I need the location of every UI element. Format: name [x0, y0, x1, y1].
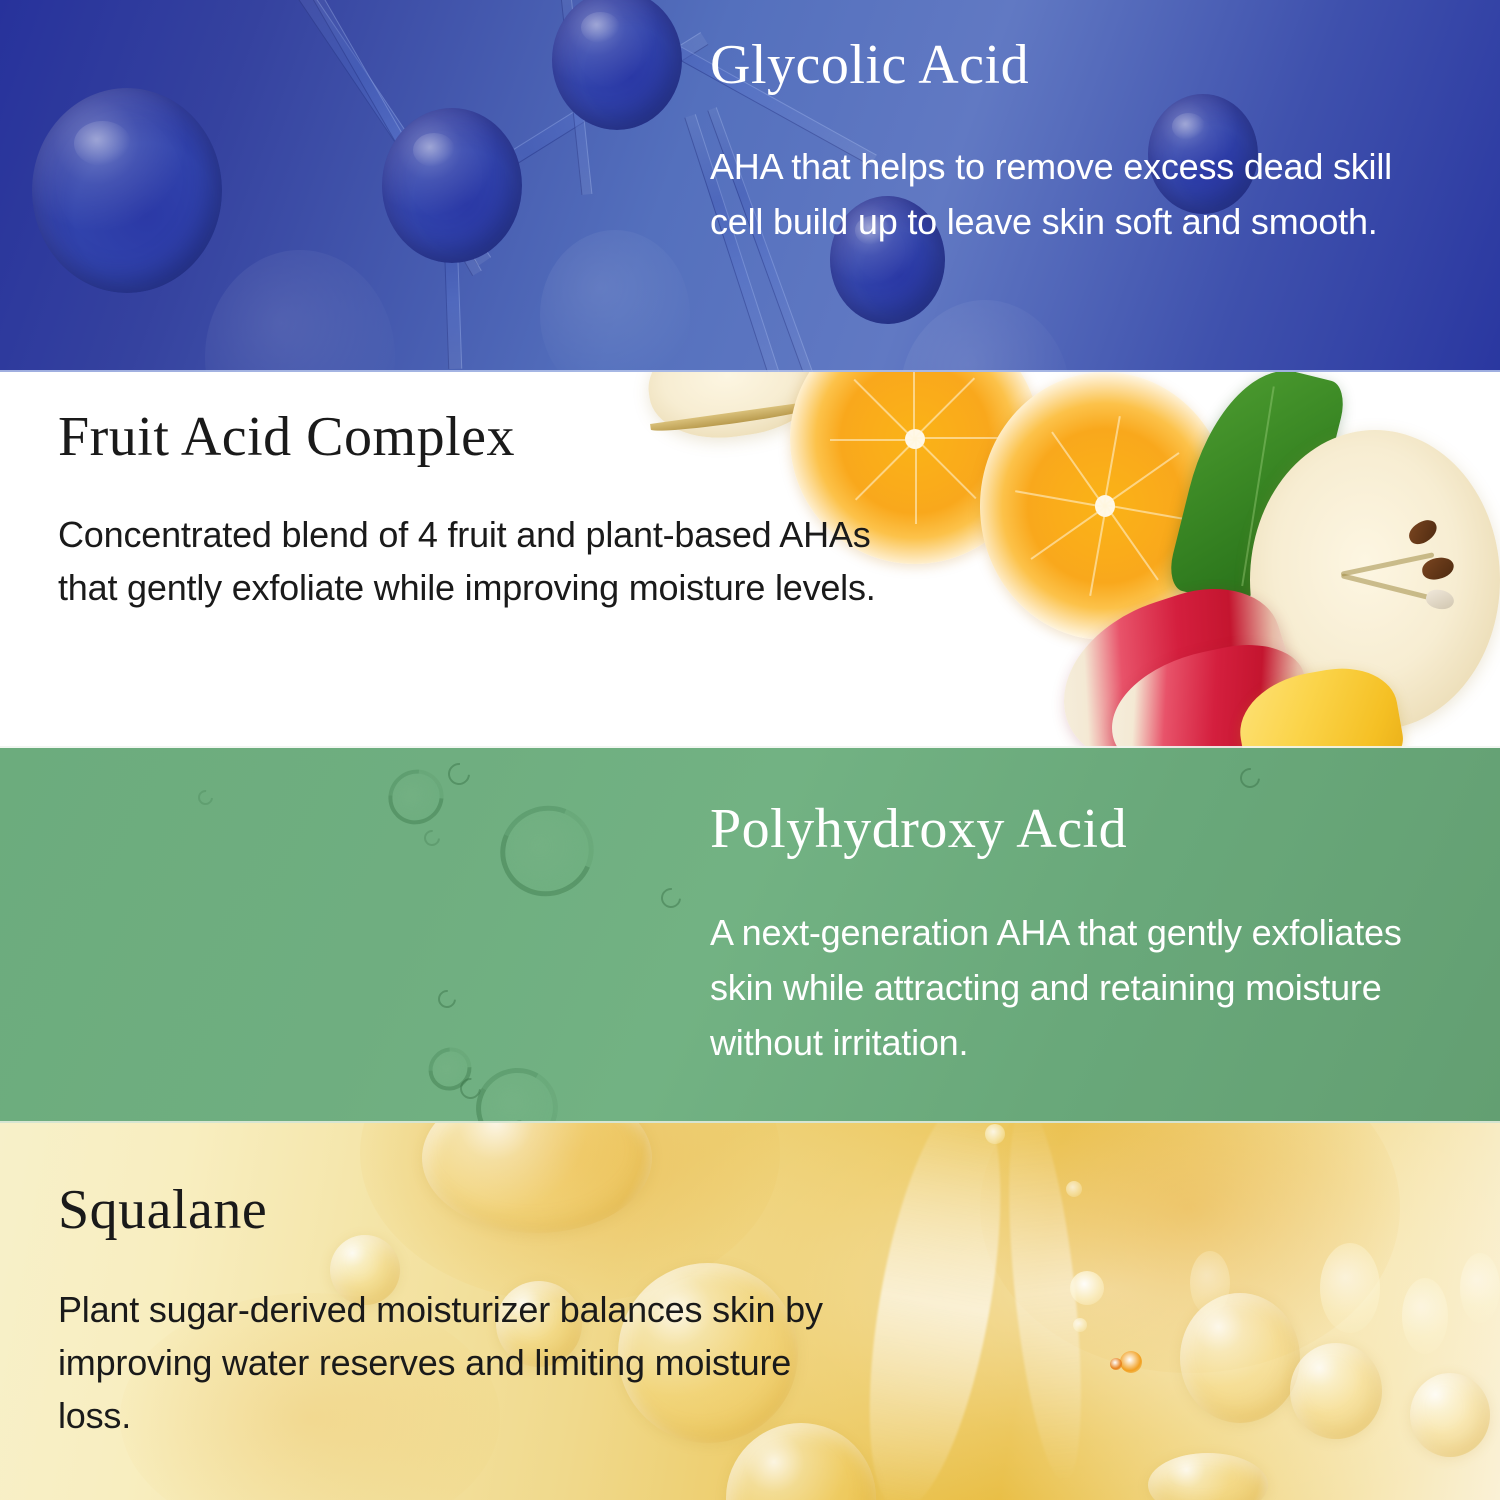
molecule-sphere: [552, 0, 682, 130]
bokeh-dot: [1073, 1318, 1087, 1332]
oil-bubble: [1410, 1373, 1490, 1457]
molecule-sphere: [382, 108, 522, 263]
gel-micro-bubble: [444, 759, 475, 790]
panel-fruit-acid-complex: Fruit Acid Complex Concentrated blend of…: [0, 372, 1500, 748]
bokeh-dot: [1460, 1253, 1500, 1323]
orange-pulp-ray: [1103, 416, 1120, 506]
gel-bubble: [487, 792, 608, 911]
molecule-sphere-blurred: [900, 300, 1070, 372]
orange-pulp-ray: [1105, 505, 1159, 581]
panel-divider: [0, 746, 1500, 748]
orange-pulp-ray: [1051, 431, 1105, 507]
panel-title: Fruit Acid Complex: [58, 408, 918, 467]
oil-bubble: [1148, 1453, 1268, 1500]
panel-title: Polyhydroxy Acid: [710, 800, 1470, 859]
gel-micro-bubble: [421, 827, 444, 850]
orange-pulp-ray: [915, 437, 1000, 439]
panel-divider: [0, 1121, 1500, 1123]
bokeh-dot: [1066, 1181, 1082, 1197]
orange-pulp-ray: [914, 378, 975, 439]
orange-pulp-ray: [1030, 506, 1106, 560]
ingredient-infographic: Glycolic Acid AHA that helps to remove e…: [0, 0, 1500, 1500]
bokeh-dot: [1320, 1243, 1380, 1333]
panel-title: Glycolic Acid: [710, 36, 1450, 95]
gel-bubble: [377, 758, 455, 835]
oil-bubble: [1180, 1293, 1300, 1423]
molecule-sphere-blurred: [205, 250, 395, 372]
orange-pulp-ray: [1015, 490, 1105, 507]
panel-description: Plant sugar-derived moisturizer balances…: [58, 1284, 858, 1443]
panel-description: Concentrated blend of 4 fruit and plant-…: [58, 509, 918, 615]
oil-bubble: [1290, 1343, 1382, 1439]
orange-pulp-ray: [1089, 506, 1106, 596]
bokeh-dot: [1402, 1278, 1448, 1354]
gel-bubble: [468, 1059, 567, 1123]
bokeh-dot: [1120, 1351, 1142, 1373]
bokeh-dot: [1110, 1358, 1122, 1370]
orange-pulp-ray: [915, 438, 976, 499]
gel-micro-bubble: [434, 986, 459, 1011]
molecule-sphere-blurred: [540, 230, 690, 372]
panel-description: A next-generation AHA that gently exfoli…: [710, 905, 1470, 1070]
panel-title: Squalane: [58, 1181, 858, 1240]
molecule-sphere: [32, 88, 222, 293]
gel-micro-bubble: [1236, 764, 1264, 792]
bokeh-dot: [1070, 1271, 1104, 1305]
panel-divider: [0, 370, 1500, 372]
bokeh-dot: [1190, 1251, 1230, 1315]
panel-glycolic-acid: Glycolic Acid AHA that helps to remove e…: [0, 0, 1500, 372]
gel-micro-bubble: [657, 884, 685, 912]
oil-highlight-streak: [844, 1123, 1025, 1500]
orange-pulp-ray: [1104, 452, 1180, 506]
panel-squalane: Squalane Plant sugar-derived moisturizer…: [0, 1123, 1500, 1500]
panel-description: AHA that helps to remove excess dead ski…: [710, 139, 1450, 249]
panel-polyhydroxy-acid: Polyhydroxy Acid A next-generation AHA t…: [0, 748, 1500, 1123]
bokeh-dot: [985, 1124, 1005, 1144]
gel-micro-bubble: [195, 787, 216, 808]
